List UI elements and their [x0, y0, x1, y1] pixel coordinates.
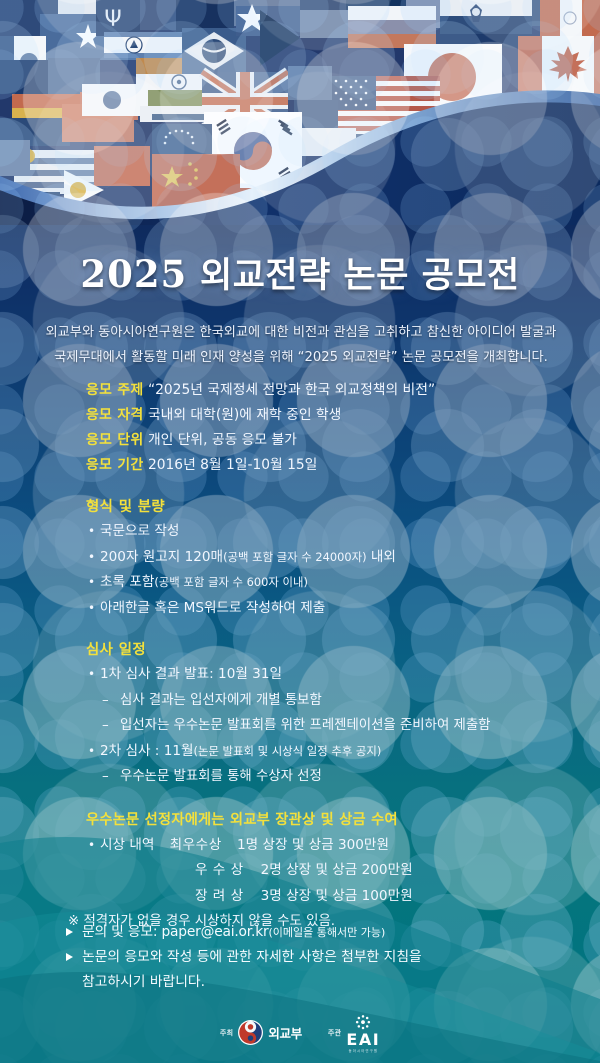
item-main: 아래한글 혹은 MS워드로 작성하여 제출: [100, 600, 325, 616]
entry-value: 2016년 8월 1일-10월 15일: [148, 457, 317, 473]
entry-row: 응모 기간 2016년 8월 1일-10월 15일: [86, 453, 586, 478]
title-rest: 외교전략 논문 공모전: [200, 255, 520, 296]
entry-value: 개인 단위, 공동 응모 불가: [148, 432, 297, 448]
awards-section: 우수논문 선정자에게는 외교부 장관상 및 상금 수여 시상 내역 최우수상 1…: [86, 807, 586, 935]
item-small: (공백 포함 글자 수 600자 이내): [154, 575, 308, 589]
contact-email-text[interactable]: 문의 및 응모: paper@eai.or.kr: [82, 924, 268, 940]
host-name: 외교부: [268, 1023, 302, 1042]
list-sub-item: 심사 결과는 입선자에게 개별 통보함: [86, 688, 586, 714]
award-detail: 3명 상장 및 상금 100만원: [261, 888, 413, 904]
format-list: 국문으로 작성 200자 원고지 120매(공백 포함 글자 수 24000자)…: [86, 519, 586, 621]
eai-logo: EAI 동아시아연구원: [346, 1013, 380, 1053]
award-name: 장 려 상: [182, 884, 256, 910]
host-logo: 주최 외교부: [220, 1020, 302, 1045]
list-item: 1차 심사 결과 발표: 10월 31일: [86, 662, 586, 688]
award-detail: 1명 상장 및 상금 300만원: [237, 837, 389, 853]
award-name: 최우수상: [159, 833, 233, 859]
item-main: 2차 심사 : 11월: [100, 743, 194, 759]
title-year: 2025: [80, 252, 187, 296]
review-list: 1차 심사 결과 발표: 10월 31일 심사 결과는 입선자에게 개별 통보함…: [86, 662, 586, 790]
item-small: (공백 포함 글자 수 24000자): [223, 550, 366, 564]
entry-row: 응모 자격 국내외 대학(원)에 재학 중인 학생: [86, 403, 586, 428]
item-main: 200자 원고지 120매: [100, 549, 223, 565]
guideline-line-1: 논문의 응모와 작성 등에 관한 자세한 사항은 첨부한 지침을: [82, 945, 582, 970]
list-sub-item: 입선자는 우수논문 발표회를 위한 프레젠테이션을 준비하여 제출함: [86, 713, 586, 739]
award-row: 시상 내역 최우수상 1명 상장 및 상금 300만원: [86, 833, 586, 859]
item-tail: 내외: [367, 549, 396, 565]
entry-row: 응모 단위 개인 단위, 공동 응모 불가: [86, 428, 586, 453]
awards-heading: 우수논문 선정자에게는 외교부 장관상 및 상금 수여: [86, 807, 586, 833]
intro-line-1: 외교부와 동아시아연구원은 한국외교에 대한 비전과 관심을 고취하고 참신한 …: [18, 320, 584, 345]
review-section: 심사 일정 1차 심사 결과 발표: 10월 31일 심사 결과는 입선자에게 …: [86, 638, 586, 790]
organizer-role-label: 주관: [328, 1028, 341, 1038]
organizer-sub: 동아시아연구원: [349, 1048, 379, 1053]
contact-section: 문의 및 응모: paper@eai.or.kr(이메일을 통해서만 가능) 논…: [62, 920, 582, 995]
list-item: 아래한글 혹은 MS워드로 작성하여 제출: [86, 596, 586, 622]
entry-key: 응모 주제: [86, 382, 144, 398]
entry-value: 국내외 대학(원)에 재학 중인 학생: [148, 407, 341, 423]
contact-line-guideline: 논문의 응모와 작성 등에 관한 자세한 사항은 첨부한 지침을 참고하시기 바…: [62, 945, 582, 995]
list-item: 200자 원고지 120매(공백 포함 글자 수 24000자) 내외: [86, 545, 586, 571]
footer-logos: 주최 외교부 주관: [0, 1010, 600, 1055]
format-section: 형식 및 분량 국문으로 작성 200자 원고지 120매(공백 포함 글자 수…: [86, 495, 586, 621]
item-main: 초록 포함: [100, 574, 154, 590]
organizer-name: EAI: [346, 1032, 380, 1048]
poster-body: 응모 주제 “2025년 국제정세 전망과 한국 외교정책의 비전” 응모 자격…: [86, 378, 586, 934]
entry-key: 응모 자격: [86, 407, 144, 423]
entry-requirements: 응모 주제 “2025년 국제정세 전망과 한국 외교정책의 비전” 응모 자격…: [86, 378, 586, 478]
award-detail: 2명 상장 및 상금 200만원: [261, 862, 413, 878]
entry-key: 응모 단위: [86, 432, 144, 448]
list-item: 2차 심사 : 11월(논문 발표회 및 시상식 일정 추후 공지): [86, 739, 586, 765]
list-item: 국문으로 작성: [86, 519, 586, 545]
list-sub-item: 우수논문 발표회를 통해 수상자 선정: [86, 764, 586, 790]
contact-email-note: (이메일을 통해서만 가능): [268, 926, 385, 939]
guideline-line-2: 참고하시기 바랍니다.: [82, 970, 582, 995]
award-row: 우 수 상 2명 상장 및 상금 200만원: [86, 858, 586, 884]
item-small: (논문 발표회 및 시상식 일정 추후 공지): [194, 744, 382, 758]
review-heading: 심사 일정: [86, 638, 586, 662]
contact-line-email: 문의 및 응모: paper@eai.or.kr(이메일을 통해서만 가능): [62, 920, 582, 945]
item-main: 국문으로 작성: [100, 523, 179, 539]
intro-paragraph: 외교부와 동아시아연구원은 한국외교에 대한 비전과 관심을 고취하고 참신한 …: [18, 320, 584, 370]
page-title: 2025 외교전략 논문 공모전: [0, 247, 600, 298]
award-name: 우 수 상: [182, 858, 256, 884]
poster-root: Ψ: [0, 0, 600, 1063]
awards-rows-label: 시상 내역: [100, 837, 154, 853]
taegeuk-icon: [238, 1020, 263, 1045]
format-heading: 형식 및 분량: [86, 495, 586, 519]
entry-value: “2025년 국제정세 전망과 한국 외교정책의 비전”: [148, 382, 435, 398]
award-row: 장 려 상 3명 상장 및 상금 100만원: [86, 884, 586, 910]
entry-key: 응모 기간: [86, 457, 144, 473]
intro-line-2: 국제무대에서 활동할 미래 인재 양성을 위해 “2025 외교전략” 논문 공…: [18, 345, 584, 370]
organizer-logo: 주관 EAI 동: [328, 1013, 380, 1053]
entry-row: 응모 주제 “2025년 국제정세 전망과 한국 외교정책의 비전”: [86, 378, 586, 403]
host-role-label: 주최: [220, 1028, 233, 1038]
poster-content: 2025 외교전략 논문 공모전 외교부와 동아시아연구원은 한국외교에 대한 …: [0, 0, 600, 1063]
list-item: 초록 포함(공백 포함 글자 수 600자 이내): [86, 570, 586, 596]
